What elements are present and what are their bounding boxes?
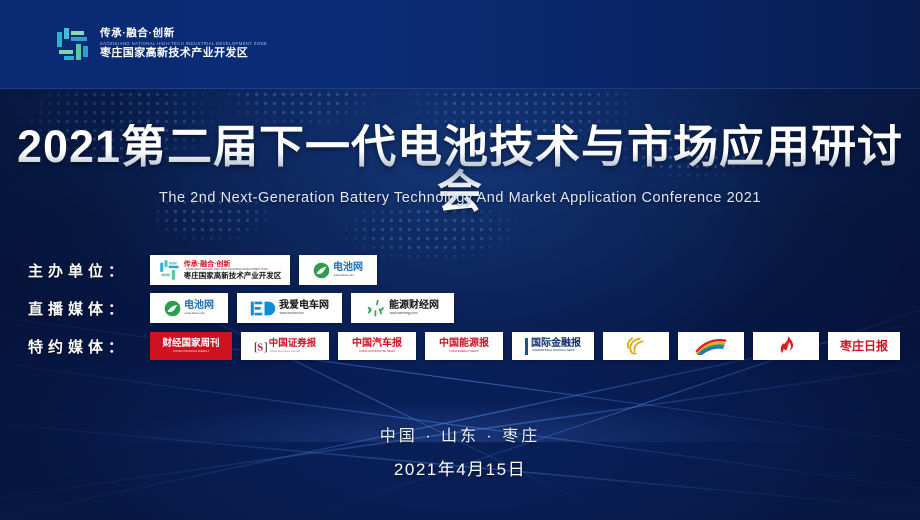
- s-bracket-icon: [ S ]: [254, 339, 267, 354]
- blue-ed-icon: [250, 300, 276, 317]
- row-label-live-media: 直播媒体：: [28, 298, 150, 319]
- gold-swirl-icon: [625, 335, 647, 357]
- logo-url: www.itdcw.com: [185, 312, 206, 315]
- logo-name-cn: 枣庄日报: [840, 340, 888, 352]
- footer-location: 中国 · 山东 · 枣庄: [0, 422, 920, 446]
- green-leaf-icon: [313, 262, 330, 279]
- logo-zhongguo-nengyuan-bao[interactable]: 中国能源报 CHINA ENERGY NEWS: [425, 332, 503, 360]
- logo-nengyuancaijingwang[interactable]: 能源财经网 www.ineenergy.com: [351, 293, 454, 323]
- logo-name-cn: 中国汽车报: [352, 339, 402, 349]
- header-org-name: 枣庄国家高新技术产业开发区: [100, 47, 267, 60]
- svg-text:]: ]: [263, 341, 266, 353]
- row-live-media: 直播媒体： 电池网 www.itdcw.com: [28, 293, 900, 323]
- logo-org-cn: 枣庄国家高新技术产业开发区: [184, 272, 282, 280]
- logo-guoji-jinrong-bao[interactable]: 国际金融报 INTERNATIONAL FINANCIAL NEWS: [512, 332, 594, 360]
- logo-url: www.itdcw.com: [334, 274, 355, 277]
- header-bar: 传承·融合·创新 ZAOZHUANG NATIONAL HIGH-TECH IN…: [0, 0, 920, 89]
- logo-caijing-guojia-zhoukan[interactable]: 财经国家周刊 CHINA FINANCIAL WEEKLY: [150, 332, 232, 360]
- row-label-special-media: 特约媒体：: [28, 336, 150, 357]
- logo-slogan-cn: 传承·融合·创新: [184, 261, 231, 268]
- red-flame-icon: [776, 335, 796, 357]
- logo-name-en: CHINA FINANCIAL WEEKLY: [173, 350, 210, 353]
- logo-zhongguo-qiche-bao[interactable]: 中国汽车报 CHINA AUTOMOTIVE NEWS: [338, 332, 416, 360]
- logo-name-en: China Securities Journal: [270, 350, 300, 353]
- row-organizer: 主办单位： 传承·融合·创新 ZAOZHUANG NATIONAL HIGH-T…: [28, 255, 900, 285]
- svg-text:S: S: [257, 342, 263, 353]
- rainbow-swoosh-icon: [695, 337, 727, 355]
- logo-name-cn: 国际金融报: [531, 339, 581, 349]
- logo-name-cn: 财经国家周刊: [162, 339, 219, 349]
- logo-name-en: CHINA AUTOMOTIVE NEWS: [359, 350, 395, 353]
- row-label-organizer: 主办单位：: [28, 260, 150, 281]
- logo-zaozhuang-hi-tech-zone[interactable]: 传承·融合·创新 ZAOZHUANG NATIONAL HIGH-TECH IN…: [150, 255, 290, 285]
- logo-name-cn: 我爱电车网: [279, 301, 329, 311]
- footer-date: 2021年4月15日: [0, 455, 920, 480]
- logo-dianchiwang[interactable]: 电池网 www.itdcw.com: [299, 255, 377, 285]
- sponsor-rows: 主办单位： 传承·融合·创新 ZAOZHUANG NATIONAL HIGH-T…: [28, 255, 900, 361]
- footer: 中国 · 山东 · 枣庄 2021年4月15日: [0, 422, 920, 480]
- conference-banner: 传承·融合·创新 ZAOZHUANG NATIONAL HIGH-TECH IN…: [0, 0, 920, 520]
- logo-name-cn: 中国能源报: [439, 339, 489, 349]
- logo-zhongguo-zhengquan-bao[interactable]: [ S ] 中国证券报 China Securities Journal: [241, 332, 329, 360]
- organizer-logos: 传承·融合·创新 ZAOZHUANG NATIONAL HIGH-TECH IN…: [150, 255, 377, 285]
- special-media-logos: 财经国家周刊 CHINA FINANCIAL WEEKLY [ S ] 中国证券…: [150, 332, 900, 360]
- header-brand: 传承·融合·创新 ZAOZHUANG NATIONAL HIGH-TECH IN…: [55, 26, 267, 62]
- row-special-media: 特约媒体： 财经国家周刊 CHINA FINANCIAL WEEKLY [ S …: [28, 331, 900, 361]
- logo-url: www.xevcar.com: [280, 312, 304, 315]
- page-subtitle: The 2nd Next-Generation Battery Technolo…: [0, 190, 920, 206]
- logo-red-flame-media[interactable]: [753, 332, 819, 360]
- logo-name-cn: 电池网: [184, 301, 214, 311]
- green-burst-icon: [366, 299, 386, 317]
- logo-name-cn: 电池网: [333, 263, 363, 273]
- logo-rainbow-swoosh-media[interactable]: [678, 332, 744, 360]
- header-slogan-en: ZAOZHUANG NATIONAL HIGH-TECH INDUSTRIAL …: [100, 41, 267, 46]
- live-media-logos: 电池网 www.itdcw.com 我爱电车网 www.xevcar.co: [150, 293, 454, 323]
- logo-name-en: INTERNATIONAL FINANCIAL NEWS: [532, 350, 574, 353]
- blue-bar-icon: [525, 338, 528, 355]
- logo-url: www.ineenergy.com: [390, 312, 418, 315]
- green-leaf-icon: [164, 300, 181, 317]
- header-slogan-cn: 传承·融合·创新: [100, 28, 267, 40]
- zaozhuang-blocks-icon: [159, 259, 181, 281]
- logo-name-cn: 中国证券报: [269, 339, 317, 349]
- logo-gold-swirl-media[interactable]: [603, 332, 669, 360]
- logo-name-cn: 能源财经网: [389, 301, 439, 311]
- logo-name-en: CHINA ENERGY NEWS: [449, 350, 479, 353]
- zaozhuang-hi-tech-zone-logo-icon: [55, 26, 91, 62]
- logo-woaidianchewang[interactable]: 我爱电车网 www.xevcar.com: [237, 293, 342, 323]
- logo-dianchiwang[interactable]: 电池网 www.itdcw.com: [150, 293, 228, 323]
- logo-slogan-en: ZAOZHUANG NATIONAL HIGH-TECH INDUSTRIAL …: [186, 269, 268, 271]
- logo-zaozhuang-ribao[interactable]: 枣庄日报: [828, 332, 900, 360]
